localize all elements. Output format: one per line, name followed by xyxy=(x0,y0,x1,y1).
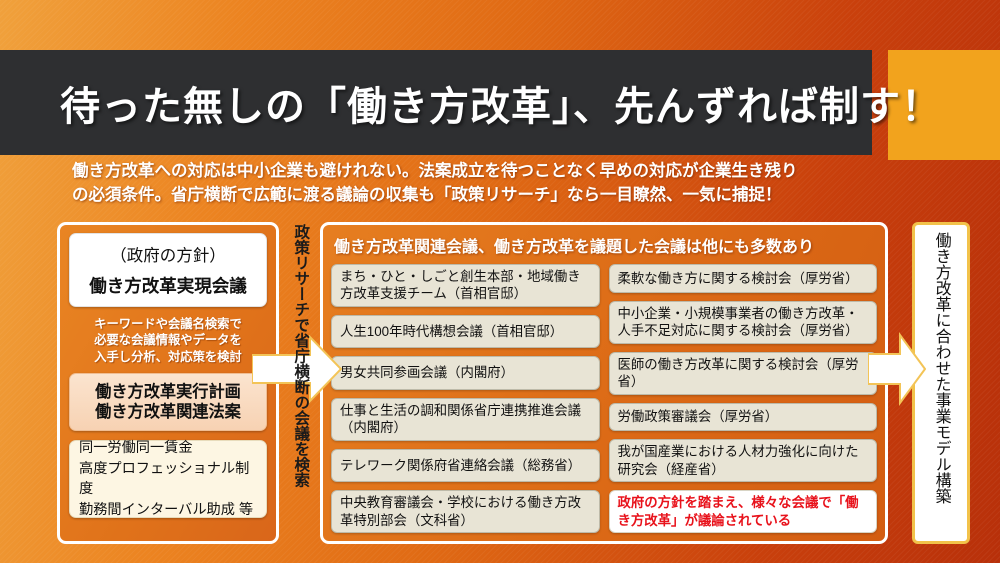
government-policy-panel: （政府の方針） 働き方改革実現会議 キーワードや会議名検索で 必要な会議情報やデ… xyxy=(57,222,279,544)
action-plan-line-2: 働き方改革関連法案 xyxy=(95,402,241,422)
policy-box-title: 働き方改革実現会議 xyxy=(89,273,247,298)
action-plan-line-1: 働き方改革実行計画 xyxy=(95,382,241,402)
meetings-right-column: 柔軟な働き方に関する検討会（厚労省） 中小企業・小規模事業者の働き方改革・人手不… xyxy=(609,264,878,533)
reform-item-3: 勤務間インターバル助成 等 xyxy=(79,500,253,521)
meeting-item: 男女共同参画会議（内閣府） xyxy=(331,356,600,389)
search-note-line-2: 必要な会議情報やデータを xyxy=(71,332,265,348)
meeting-item: 仕事と生活の調和関係省庁連携推進会議（内閣府） xyxy=(331,398,600,441)
subtitle-text: 働き方改革への対応は中小企業も避けれない。法案成立を待つことなく早めの対応が企業… xyxy=(72,160,932,208)
reform-item-2: 高度プロフェッショナル制度 xyxy=(79,459,257,500)
title-banner: 待った無しの「働き方改革」、先んずれば制す！ xyxy=(0,50,872,155)
conclusion-label: 政府の方針を踏まえ、様々な会議で「働き方改革」が議論されている xyxy=(618,494,869,529)
meeting-item: 労働政策審議会（厚労省） xyxy=(609,403,878,432)
related-meetings-panel: 働き方改革関連会議、働き方改革を議題した会議は他にも多数あり まち・ひと・しごと… xyxy=(320,222,888,544)
connector-vertical-text: 政策リサーチで省庁横断の会議を検索 xyxy=(292,224,308,488)
policy-box-subtitle: （政府の方針） xyxy=(110,242,226,266)
meeting-item: テレワーク関係府省連絡会議（総務省） xyxy=(331,449,600,482)
meeting-item: 医師の働き方改革に関する検討会（厚労省） xyxy=(609,352,878,395)
meeting-label: 男女共同参画会議（内閣府） xyxy=(340,364,514,381)
meeting-label: 人生100年時代構想会議（首相官邸） xyxy=(340,323,563,340)
meetings-left-column: まち・ひと・しごと創生本部・地域働き方改革支援チーム（首相官邸） 人生100年時… xyxy=(331,264,600,533)
search-note-line-3: 入手し分析、対応策を検討 xyxy=(71,349,265,365)
policy-box: （政府の方針） 働き方改革実現会議 xyxy=(69,233,267,307)
reform-item-1: 同一労働同一賃金 xyxy=(79,438,193,459)
meeting-item: 中小企業・小規模事業者の働き方改革・人手不足対応に関する検討会（厚労省） xyxy=(609,301,878,344)
page-title: 待った無しの「働き方改革」、先んずれば制す！ xyxy=(60,74,942,132)
meeting-item: 人生100年時代構想会議（首相官邸） xyxy=(331,315,600,348)
meeting-label: 中央教育審議会・学校における働き方改革特別部会（文科省） xyxy=(340,494,591,529)
meeting-label: 中小企業・小規模事業者の働き方改革・人手不足対応に関する検討会（厚労省） xyxy=(618,305,869,340)
arrow-right-icon xyxy=(868,332,926,406)
search-note: キーワードや会議名検索で 必要な会議情報やデータを 入手し分析、対応策を検討 xyxy=(69,307,267,373)
meeting-label: 我が国産業における人材力強化に向けた研究会（経産省） xyxy=(618,443,869,478)
meeting-item: 柔軟な働き方に関する検討会（厚労省） xyxy=(609,264,878,293)
meetings-grid: まち・ひと・しごと創生本部・地域働き方改革支援チーム（首相官邸） 人生100年時… xyxy=(331,264,877,533)
meeting-label: 医師の働き方改革に関する検討会（厚労省） xyxy=(618,356,869,391)
meeting-item: 中央教育審議会・学校における働き方改革特別部会（文科省） xyxy=(331,490,600,533)
meeting-label: 労働政策審議会（厚労省） xyxy=(618,408,779,425)
policy-research-connector-label: 政策リサーチで省庁横断の会議を検索 xyxy=(283,224,317,542)
reform-items-box: 同一労働同一賃金 高度プロフェッショナル制度 勤務間インターバル助成 等 xyxy=(69,440,267,518)
meeting-label: 柔軟な働き方に関する検討会（厚労省） xyxy=(618,270,859,287)
business-model-vertical-text: 働き方改革に合わせた事業モデル構築 xyxy=(932,232,949,504)
meeting-label: 仕事と生活の調和関係省庁連携推進会議（内閣府） xyxy=(340,402,591,437)
meeting-label: テレワーク関係府省連絡会議（総務省） xyxy=(340,457,581,474)
action-plan-box: 働き方改革実行計画 働き方改革関連法案 xyxy=(69,373,267,431)
subtitle-line-2: の必須条件。省庁横断で広範に渡る議論の収集も「政策リサーチ」なら一目瞭然、一気に… xyxy=(72,184,932,208)
subtitle-line-1: 働き方改革への対応は中小企業も避けれない。法案成立を待つことなく早めの対応が企業… xyxy=(72,160,932,184)
related-meetings-header: 働き方改革関連会議、働き方改革を議題した会議は他にも多数あり xyxy=(334,233,877,257)
meeting-item: まち・ひと・しごと創生本部・地域働き方改革支援チーム（首相官邸） xyxy=(331,264,600,307)
conclusion-callout: 政府の方針を踏まえ、様々な会議で「働き方改革」が議論されている xyxy=(609,490,878,533)
meeting-item: 我が国産業における人材力強化に向けた研究会（経産省） xyxy=(609,439,878,482)
meeting-label: まち・ひと・しごと創生本部・地域働き方改革支援チーム（首相官邸） xyxy=(340,268,591,303)
search-note-line-1: キーワードや会議名検索で xyxy=(71,316,265,332)
